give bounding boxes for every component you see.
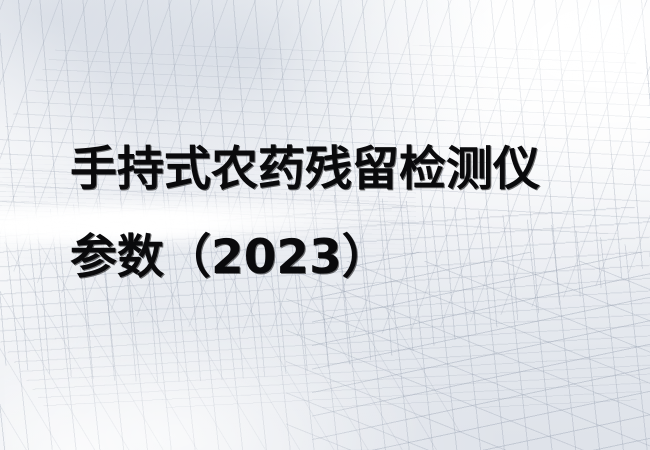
page-title-line-2: 参数（2023）	[70, 214, 630, 302]
title-slide: 手持式农药残留检测仪 参数（2023）	[0, 0, 650, 450]
page-title: 手持式农药残留检测仪 参数（2023）	[70, 126, 630, 302]
page-title-line-1: 手持式农药残留检测仪	[70, 126, 630, 214]
